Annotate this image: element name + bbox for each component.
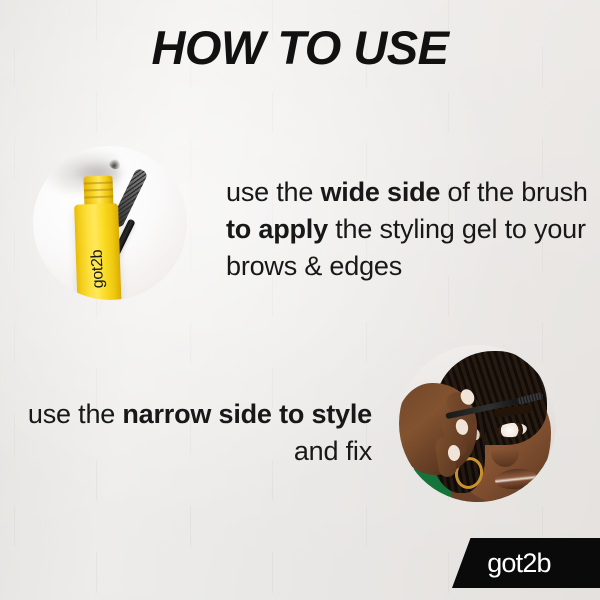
run-use-the: use the — [226, 177, 320, 207]
model-photo — [399, 345, 556, 502]
logo-wordmark: got2b — [452, 548, 586, 578]
run-of-the-brush: of the brush — [440, 177, 588, 207]
run-to-apply: to apply — [226, 214, 328, 244]
run2-use-the: use the — [28, 399, 122, 429]
got2b-gel-bottle: got2b — [74, 203, 122, 300]
product-photo: got2b — [33, 146, 187, 300]
got2b-logo: got2b — [452, 538, 600, 588]
bottle-brand-label: got2b — [88, 241, 108, 298]
run2-to-style: to style — [279, 399, 372, 429]
run2-and-fix: and fix — [294, 436, 372, 466]
run-wide-side: wide side — [320, 177, 440, 207]
step-wide-side-text: use the wide side of the brush to apply … — [226, 174, 588, 285]
page-title: HOW TO USE — [0, 22, 600, 74]
run2-narrow-side: narrow side — [122, 399, 271, 429]
run2-space — [272, 399, 279, 429]
model-nose — [491, 437, 519, 467]
step-narrow-side-text: use the narrow side to style and fix — [22, 396, 372, 470]
poster-canvas: HOW TO USE got2b use the wide side of th… — [0, 0, 600, 600]
brick-joints — [0, 0, 600, 600]
